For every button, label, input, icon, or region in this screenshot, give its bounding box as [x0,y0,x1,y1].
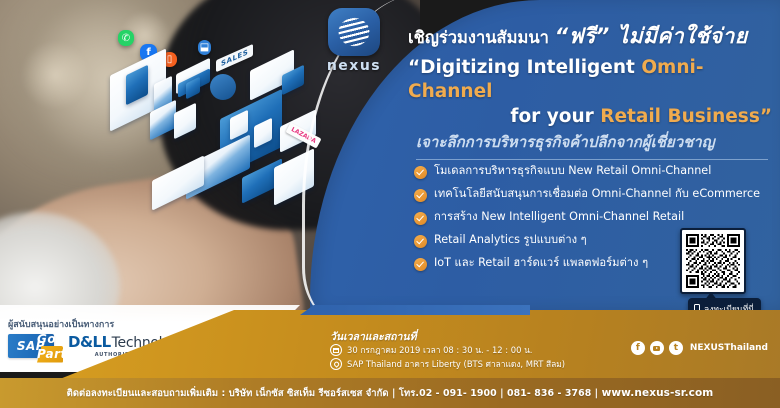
footer-bar: ติดต่อลงทะเบียนและสอบถามเพิ่มเติม : บริษ… [0,378,780,408]
shopping-bag-small [174,103,196,140]
tablet-device [152,155,204,210]
title-line2-accent: Retail Business” [600,106,772,127]
title-line1-plain: “Digitizing Intelligent [408,57,641,78]
sap-badge-line1: Gold [37,332,70,346]
check-circle-icon [414,189,427,202]
facebook-icon[interactable]: f [631,341,645,355]
check-circle-icon [414,235,427,248]
agenda-subhead: เจาะลึกการบริหารธุรกิจค้าปลีกจากผู้เชี่ย… [416,130,768,160]
social-handle: NEXUSThailand [690,343,768,353]
nexus-logo-text: nexus [306,58,402,74]
location-pin-icon [330,358,342,370]
list-item-label: Retail Analytics รูปแบบต่าง ๆ [434,234,587,247]
sales-tag: SALES [216,44,253,73]
nexus-logo: nexus [306,8,402,74]
bokeh-light [20,40,90,110]
title-line2-plain: for your [510,106,600,127]
location-pin-icon [210,74,236,100]
invite-line: เชิญร่วมงานสัมมนา “ฟรี” ไม่มีค่าใช้จ่าย [408,20,772,53]
sap-gold-partner-badge: Gold Partner [37,328,62,362]
list-item: การสร้าง New Intelligent Omni-Channel Re… [414,211,774,225]
sap-logo: SAP Gold Partner [8,334,54,358]
seminar-poster: ✆ f ▯ ⬓ SALES LAZADA nexus เชิญร่ [0,0,780,408]
nexus-globe-logo [328,8,380,56]
list-item-label: การสร้าง New Intelligent Omni-Channel Re… [434,211,684,224]
twitter-icon[interactable]: t [669,341,683,355]
whatsapp-icon: ✆ [118,30,134,46]
invite-text: เชิญร่วมงานสัมมนา [408,28,549,47]
free-text: “ฟรี” ไม่มีค่าใช้จ่าย [555,24,748,48]
title-line-1: “Digitizing Intelligent Omni-Channel [408,56,772,105]
event-date-row: 30 กรกฎาคม 2019 เวลา 08 : 30 น. - 12 : 0… [330,343,532,357]
youtube-icon[interactable] [650,341,664,355]
event-venue-row: SAP Thailand อาคาร Liberty (BTS ศาลาแดง,… [330,357,565,371]
qr-code-icon [686,234,740,288]
social-links: f t NEXUSThailand [631,341,768,355]
messenger-icon: ⬓ [198,40,211,55]
event-venue-text: SAP Thailand อาคาร Liberty (BTS ศาลาแดง,… [347,357,565,371]
shelving-unit [274,148,314,206]
page-title: “Digitizing Intelligent Omni-Channel for… [408,56,772,129]
list-item: เทคโนโลยีสนับสนุนการเชื่อมต่อ Omni-Chann… [414,188,774,202]
panel-accent-bar [300,305,530,315]
sap-badge-line2: Partner [37,347,91,361]
check-circle-icon [414,258,427,271]
footer-contact-text: ติดต่อลงทะเบียนและสอบถามเพิ่มเติม : บริษ… [67,388,602,399]
footer-contact: ติดต่อลงทะเบียนและสอบถามเพิ่มเติม : บริษ… [67,386,714,401]
check-circle-icon [414,212,427,225]
list-item-label: โมเดลการบริหารธุรกิจแบบ New Retail Omni-… [434,165,711,178]
list-item-label: IoT และ Retail ฮาร์ดแวร์ แพลตฟอร์มต่าง ๆ [434,257,648,270]
list-item-label: เทคโนโลยีสนับสนุนการเชื่อมต่อ Omni-Chann… [434,188,760,201]
check-circle-icon [414,166,427,179]
website-url[interactable]: www.nexus-sr.com [602,387,714,399]
calendar-icon [330,344,342,356]
event-date-text: 30 กรกฎาคม 2019 เวลา 08 : 30 น. - 12 : 0… [347,343,532,357]
registration-qr-code[interactable] [680,228,746,294]
list-item: โมเดลการบริหารธุรกิจแบบ New Retail Omni-… [414,165,774,179]
title-line-2: for your Retail Business” [408,105,772,129]
